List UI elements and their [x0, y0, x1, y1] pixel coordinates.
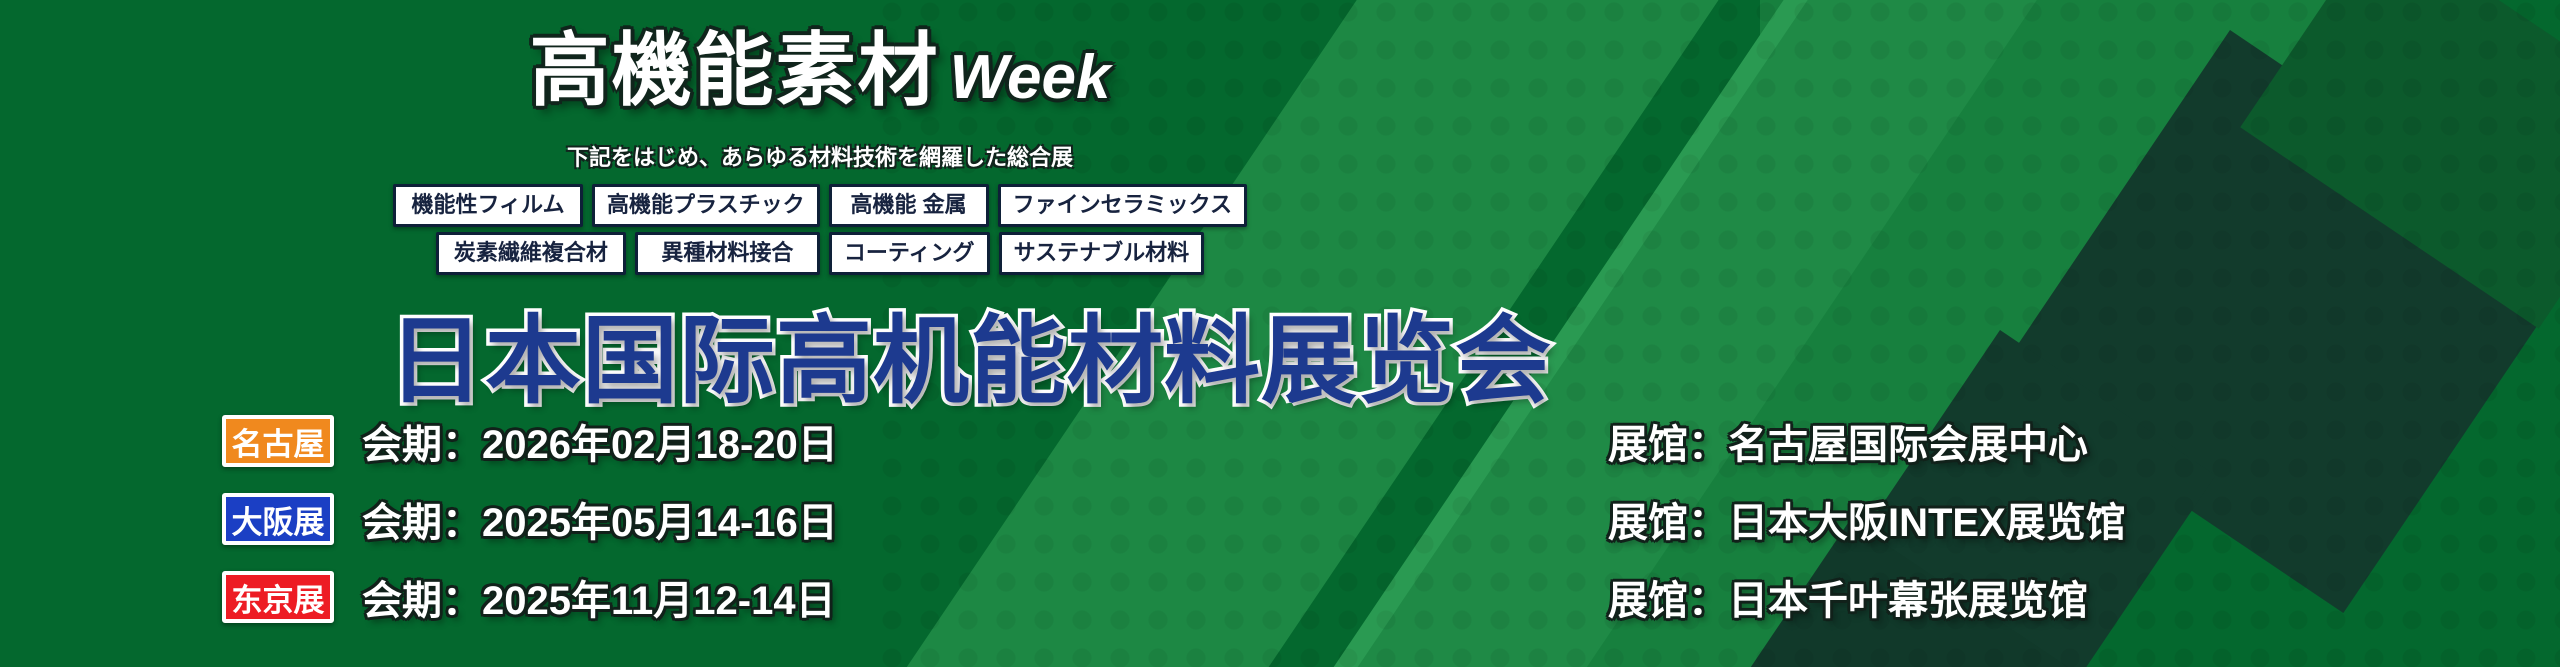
event-date: 会期：2025年11月12-14日 — [362, 568, 836, 626]
city-badge-nagoya: 名古屋 — [222, 415, 334, 467]
category-chip: 高機能 金属 — [829, 184, 989, 227]
city-badge-osaka: 大阪展 — [222, 493, 334, 545]
category-row-1: 機能性フィルム 高機能プラスチック 高機能 金属 ファインセラミックス — [393, 184, 1247, 227]
event-row: 名古屋 会期：2026年02月18-20日 展馆：名古屋国际会展中心 — [0, 402, 2560, 480]
category-row-2: 炭素繊維複合材 異種材料接合 コーティング サステナブル材料 — [436, 232, 1204, 275]
event-venue: 展馆：名古屋国际会展中心 — [1608, 412, 2088, 470]
category-chip: 炭素繊維複合材 — [436, 232, 626, 275]
event-row: 东京展 会期：2025年11月12-14日 展馆：日本千叶幕张展览馆 — [0, 558, 2560, 636]
event-venue: 展馆：日本千叶幕张展览馆 — [1608, 568, 2088, 626]
japanese-tagline: 下記をはじめ、あらゆる材料技術を網羅した総合展 — [0, 140, 1640, 172]
brand-name-jp: 高機能素材 — [530, 26, 940, 115]
event-row: 大阪展 会期：2025年05月14-16日 展馆：日本大阪INTEX展览馆 — [0, 480, 2560, 558]
event-schedule-list: 名古屋 会期：2026年02月18-20日 展馆：名古屋国际会展中心 大阪展 会… — [0, 402, 2560, 636]
category-chip: 高機能プラスチック — [592, 184, 820, 227]
event-venue: 展馆：日本大阪INTEX展览馆 — [1608, 490, 2126, 548]
category-chip: 機能性フィルム — [393, 184, 583, 227]
category-chip: サステナブル材料 — [999, 232, 1205, 275]
event-date: 会期：2026年02月18-20日 — [362, 412, 838, 470]
brand-suffix-week: Week — [950, 43, 1111, 112]
event-date: 会期：2025年05月14-16日 — [362, 490, 838, 548]
category-chip: 異種材料接合 — [635, 232, 820, 275]
category-chip: ファインセラミックス — [998, 184, 1247, 227]
banner-content: 高機能素材Week 下記をはじめ、あらゆる材料技術を網羅した総合展 機能性フィル… — [0, 0, 2560, 667]
category-chip: コーティング — [829, 232, 990, 275]
city-badge-tokyo: 东京展 — [222, 571, 334, 623]
category-chip-grid: 機能性フィルム 高機能プラスチック 高機能 金属 ファインセラミックス 炭素繊維… — [0, 184, 1640, 275]
exhibition-banner: 高機能素材Week 下記をはじめ、あらゆる材料技術を網羅した総合展 機能性フィル… — [0, 0, 2560, 667]
japanese-brand-title: 高機能素材Week — [0, 6, 1640, 122]
